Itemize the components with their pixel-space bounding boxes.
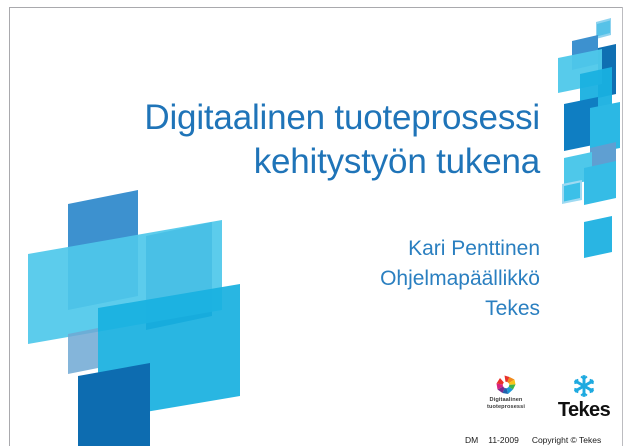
title-line-2: kehitystyön tukena [70,140,540,184]
digitaalinen-tuoteprosessi-logo: Digitaalinen tuoteprosessi [475,373,537,411]
tekes-logo: Tekes [545,373,622,421]
dm-logo-text-line-2: tuoteprosessi [475,404,537,411]
dm-logo-text-line-1: Digitaalinen [475,397,537,404]
presenter-name: Kari Penttinen [240,234,540,264]
page-title: Digitaalinen tuoteprosessi kehitystyön t… [70,96,540,184]
slide-canvas: Digitaalinen tuoteprosessi kehitystyön t… [10,8,622,446]
footer-date: 11-2009 [488,435,519,445]
presenter-role: Ohjelmapäällikkö [240,264,540,294]
presenter-org: Tekes [240,294,540,324]
logo-area: Digitaalinen tuoteprosessi [465,373,622,443]
slide-page: Digitaalinen tuoteprosessi kehitystyön t… [0,0,631,446]
page-border-right [622,7,623,446]
pinwheel-flower-icon [494,373,518,397]
snowflake-asterisk-icon [571,373,597,399]
blue-parallelogram-cluster-left [10,8,270,446]
footer-doc-code: DM [465,435,478,445]
footer-copyright: Copyright © Tekes [532,435,601,445]
presenter-info: Kari Penttinen Ohjelmapäällikkö Tekes [240,234,540,324]
title-line-1: Digitaalinen tuoteprosessi [70,96,540,140]
footer: DM11-2009Copyright © Tekes [465,435,622,445]
tekes-wordmark: Tekes [545,399,622,421]
